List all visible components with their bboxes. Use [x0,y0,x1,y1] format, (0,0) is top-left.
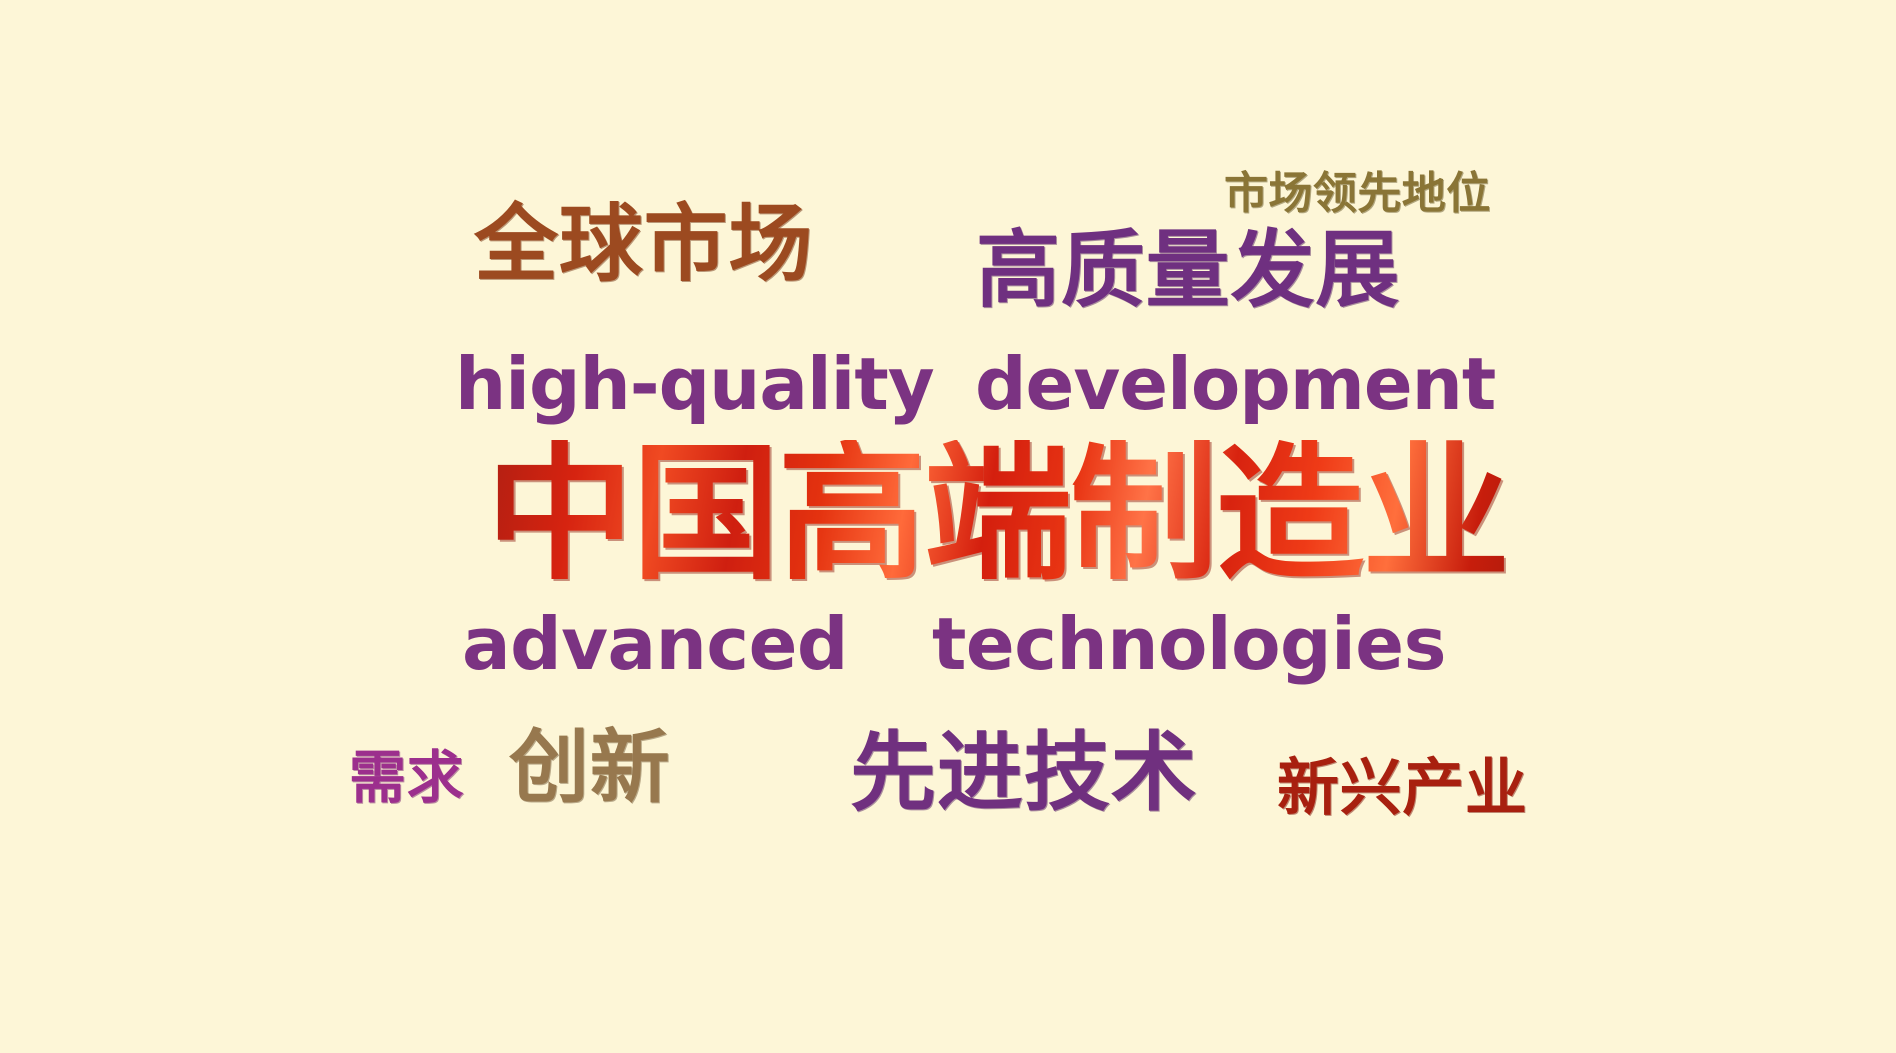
word-technologies: technologies [932,608,1446,680]
word-innovation: 创新 [509,728,671,808]
word-cloud-canvas: 市场领先地位 全球市场 高质量发展 high-quality developme… [0,0,1896,1053]
word-advanced-technology-cn: 先进技术 [850,730,1197,816]
word-global-market: 全球市场 [474,202,813,286]
word-advanced: advanced [462,608,848,680]
word-market-leading-position: 市场领先地位 [1224,172,1491,216]
word-high-quality: high-quality [455,348,934,420]
word-high-quality-development-cn: 高质量发展 [976,228,1400,312]
word-demand: 需求 [349,750,464,807]
word-development: development [975,348,1495,420]
word-china-high-end-manufacturing: 中国高端制造业 [486,440,1508,588]
word-emerging-industries: 新兴产业 [1277,757,1527,819]
